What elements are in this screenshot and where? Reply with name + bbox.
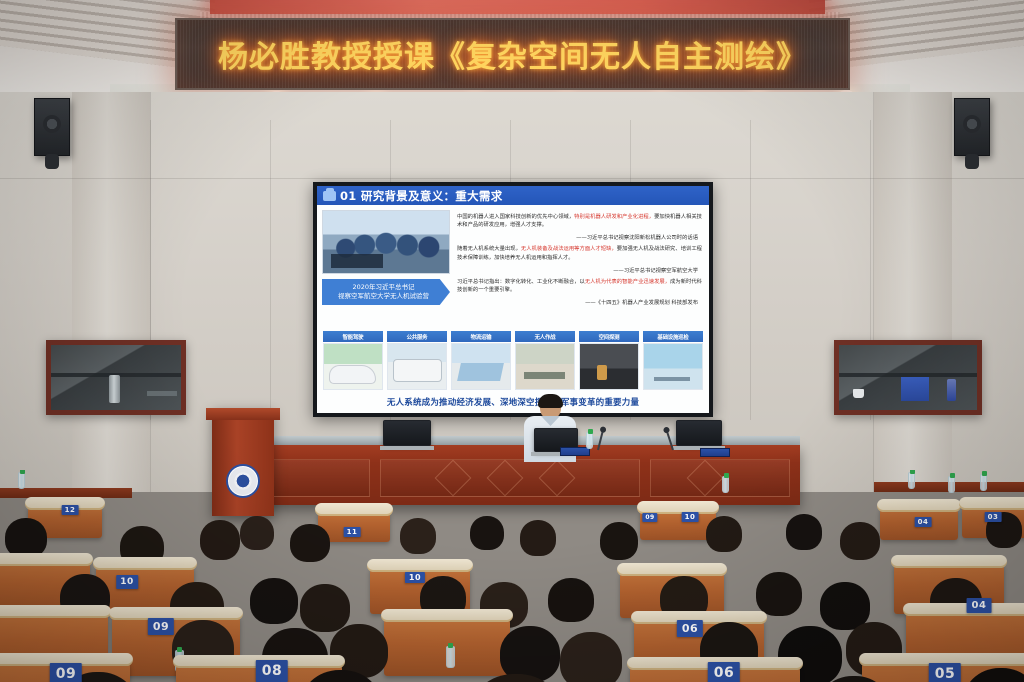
seat-number-badge: 06 bbox=[708, 662, 740, 682]
quote-text-before: 中国的机器人进入国家科技创新的优先中心领域， bbox=[457, 214, 574, 220]
seat-number-badge: 04 bbox=[915, 517, 932, 527]
slide-quote-1-attribution: ——习近平总书记视察沈阳新松机器人公司时的话语 bbox=[457, 233, 702, 241]
audience-seating bbox=[0, 470, 1024, 682]
category-label: 空间探测 bbox=[579, 331, 639, 342]
slide-body: 2020年习近平总书记 视察空军航空大学无人机试验营 中国的机器人进入国家科技创… bbox=[317, 205, 709, 328]
seat-rail bbox=[0, 553, 93, 566]
category-label: 基础设施巡检 bbox=[643, 331, 703, 342]
blue-bottle bbox=[947, 379, 956, 401]
led-banner: 杨必胜教授授课《复杂空间无人自主测绘》 bbox=[175, 18, 850, 90]
seat-number-badge: 06 bbox=[677, 620, 703, 637]
seat-rail bbox=[0, 605, 111, 618]
cabinet-glass bbox=[51, 345, 181, 410]
presentation-slide: 01 研究背景及意义：重大需求 2020年习近平总书记 视察空军航空大学无人机试… bbox=[317, 186, 709, 413]
seat-number-badge: 10 bbox=[405, 572, 425, 583]
category-image-car bbox=[323, 343, 383, 390]
slide-left-column: 2020年习近平总书记 视察空军航空大学无人机试验营 bbox=[322, 210, 450, 328]
audience-head bbox=[600, 522, 638, 560]
seat-rail bbox=[903, 603, 1024, 616]
slide-category-3: 物流运输 bbox=[451, 331, 511, 390]
slide-bullet-icon bbox=[323, 191, 336, 201]
slide-category-row: 智能驾驶 公共服务 物流运输 无人作战 空间探测 bbox=[317, 328, 709, 390]
water-bottle-desk bbox=[586, 432, 593, 449]
audience-head bbox=[548, 578, 594, 622]
audience-head bbox=[290, 524, 330, 562]
seat-number-badge: 08 bbox=[256, 660, 288, 682]
water-bottle bbox=[948, 476, 955, 493]
white-cup bbox=[853, 389, 864, 398]
category-label: 智能驾驶 bbox=[323, 331, 383, 342]
category-image-inspection bbox=[643, 343, 703, 390]
slide-category-4: 无人作战 bbox=[515, 331, 575, 390]
slide-arrow-banner: 2020年习近平总书记 视察空军航空大学无人机试验营 bbox=[322, 279, 450, 305]
seat-number-badge: 12 bbox=[62, 505, 79, 515]
laptop-right bbox=[676, 420, 722, 446]
ceiling-red-light-strip bbox=[210, 0, 825, 14]
seat-rail bbox=[367, 559, 473, 572]
audience-head bbox=[756, 572, 802, 616]
nameplate-center bbox=[560, 447, 590, 456]
slide-title-bar: 01 研究背景及意义：重大需求 bbox=[317, 186, 709, 205]
seat-rail bbox=[959, 497, 1024, 510]
seat-number-badge: 09 bbox=[642, 513, 657, 522]
audience-head bbox=[706, 516, 742, 552]
audience-head bbox=[240, 516, 274, 550]
wall-speaker-right bbox=[954, 98, 990, 156]
seat-number-badge: 05 bbox=[929, 663, 961, 682]
audience-head bbox=[5, 518, 47, 558]
audience-head bbox=[470, 516, 504, 550]
display-cabinet-right bbox=[834, 340, 982, 415]
seat-number-badge: 10 bbox=[682, 512, 699, 522]
arrow-banner-line-2: 视察空军航空大学无人机试验营 bbox=[338, 292, 429, 301]
slide-right-column: 中国的机器人进入国家科技创新的优先中心领域，特别是机器人研发和产业化进程，要加快… bbox=[455, 210, 704, 328]
seat-number-badge: 11 bbox=[344, 527, 361, 537]
laptop-lid bbox=[677, 421, 721, 445]
slide-quote-2: 随着无人机系统大量出现，无人机装备及战法运用等方面人才短缺，要加强无人机及战法研… bbox=[457, 245, 702, 261]
slide-category-6: 基础设施巡检 bbox=[643, 331, 703, 390]
slide-quote-1: 中国的机器人进入国家科技创新的优先中心领域，特别是机器人研发和产业化进程，要加快… bbox=[457, 213, 702, 229]
slide-quote-3-attribution: ——《十四五》机器人产业发展规划 科技部发布 bbox=[457, 298, 702, 306]
presenter-hair bbox=[538, 394, 563, 408]
quote-highlight: 无人机装备及战法运用等方面人才短缺， bbox=[521, 246, 617, 252]
water-bottle bbox=[980, 474, 987, 491]
seat-number-badge: 10 bbox=[116, 575, 138, 589]
seat-number-badge: 09 bbox=[148, 618, 174, 635]
cabinet-glass bbox=[839, 345, 977, 410]
audience-head bbox=[840, 522, 880, 560]
laptop-lid bbox=[384, 421, 430, 445]
slide-photo-officials bbox=[322, 210, 450, 274]
audience-head bbox=[250, 578, 298, 624]
seat-number-badge: 03 bbox=[985, 512, 1002, 522]
category-image-combat bbox=[515, 343, 575, 390]
led-banner-text: 杨必胜教授授课《复杂空间无人自主测绘》 bbox=[218, 32, 807, 76]
category-label: 物流运输 bbox=[451, 331, 511, 342]
category-image-bus bbox=[387, 343, 447, 390]
audience-head bbox=[786, 514, 822, 550]
slide-quote-2-attribution: ——习近平总书记视察空军航空大学 bbox=[457, 266, 702, 274]
nameplate-right bbox=[700, 448, 730, 457]
water-bottle bbox=[722, 476, 729, 493]
slide-category-1: 智能驾驶 bbox=[323, 331, 383, 390]
category-label: 无人作战 bbox=[515, 331, 575, 342]
seat-rail bbox=[877, 499, 961, 512]
audience-head bbox=[560, 632, 622, 682]
seat-rail bbox=[109, 607, 243, 620]
category-image-space bbox=[579, 343, 639, 390]
quote-highlight: 特别是机器人研发和产业化进程， bbox=[574, 214, 654, 220]
quote-text-before: 随着无人机系统大量出现， bbox=[457, 246, 521, 252]
seat-rail bbox=[617, 563, 727, 576]
projection-screen: 01 研究背景及意义：重大需求 2020年习近平总书记 视察空军航空大学无人机试… bbox=[313, 182, 713, 417]
thermos-flask bbox=[109, 375, 120, 403]
quote-highlight: 无人机为代表的智能产业迅速发展， bbox=[585, 279, 670, 285]
slide-category-2: 公共服务 bbox=[387, 331, 447, 390]
slide-category-5: 空间探测 bbox=[579, 331, 639, 390]
category-label: 公共服务 bbox=[387, 331, 447, 342]
slide-quote-3: 习近平总书记指出：数字化转化、工业化不断融合，以无人机为代表的智能产业迅速发展，… bbox=[457, 278, 702, 294]
category-image-truck bbox=[451, 343, 511, 390]
audience-head bbox=[300, 584, 350, 632]
slide-caption: 无人系统成为推动经济发展、深地深空探测、军事变革的重要力量 bbox=[317, 390, 709, 413]
water-bottle-seatback bbox=[446, 646, 455, 668]
arrow-banner-line-1: 2020年习近平总书记 bbox=[352, 283, 414, 292]
seat-rail bbox=[315, 503, 393, 516]
audience-head bbox=[520, 520, 556, 556]
wall-speaker-left bbox=[34, 98, 70, 156]
laptop-base bbox=[380, 446, 434, 450]
speaker-cone bbox=[963, 115, 981, 133]
wall-seam bbox=[0, 178, 1024, 179]
seat-number-badge: 04 bbox=[967, 598, 992, 613]
seat-number-badge: 09 bbox=[50, 663, 82, 682]
display-cabinet-left bbox=[46, 340, 186, 415]
blue-folder bbox=[901, 377, 929, 401]
laptop-left bbox=[383, 420, 431, 446]
podium-top bbox=[206, 408, 280, 420]
water-bottle bbox=[908, 472, 915, 489]
quote-text-before: 习近平总书记指出：数字化转化、工业化不断融合，以 bbox=[457, 279, 585, 285]
lecture-hall-photo: 杨必胜教授授课《复杂空间无人自主测绘》 01 研究 bbox=[0, 0, 1024, 682]
water-bottle bbox=[18, 472, 25, 489]
speaker-cone bbox=[43, 115, 61, 133]
audience-head bbox=[400, 518, 436, 554]
cabinet-item bbox=[147, 391, 177, 396]
seat-rail bbox=[381, 609, 513, 622]
audience-head bbox=[200, 520, 240, 560]
seat-rail bbox=[891, 555, 1007, 568]
seat-rail bbox=[93, 557, 197, 570]
slide-title: 01 研究背景及意义：重大需求 bbox=[340, 188, 503, 204]
